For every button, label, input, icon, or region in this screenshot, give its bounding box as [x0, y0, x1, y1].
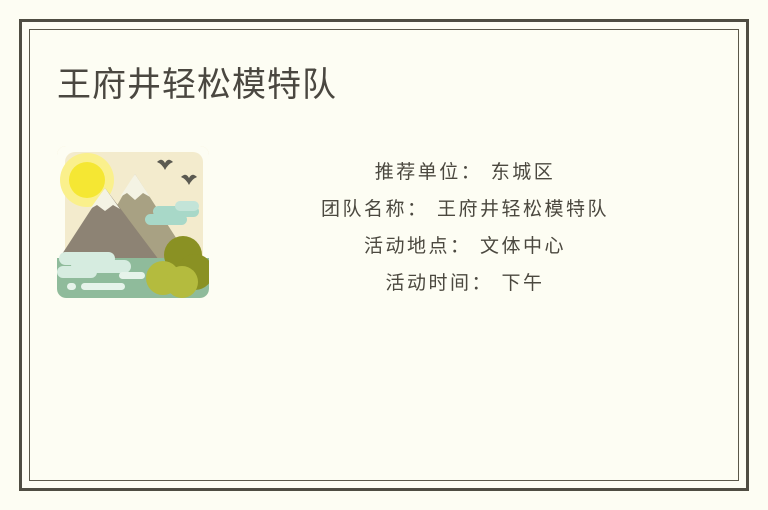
sun-icon — [69, 162, 105, 198]
page-title: 王府井轻松模特队 — [57, 62, 337, 108]
page-root: 王府井轻松模特队 — [0, 0, 768, 510]
content-row: 推荐单位： 东城区 团队名称： 王府井轻松模特队 活动地点： 文体中心 活动时间… — [57, 146, 707, 366]
landscape-thumbnail — [57, 146, 209, 298]
detail-line-activity-location: 活动地点： 文体中心 — [225, 228, 705, 265]
detail-line-activity-time: 活动时间： 下午 — [225, 265, 705, 302]
landscape-illustration-svg — [57, 146, 209, 298]
detail-line-recommend-unit: 推荐单位： 东城区 — [225, 154, 705, 191]
detail-list: 推荐单位： 东城区 团队名称： 王府井轻松模特队 活动地点： 文体中心 活动时间… — [225, 154, 705, 302]
detail-line-team-name: 团队名称： 王府井轻松模特队 — [225, 191, 705, 228]
